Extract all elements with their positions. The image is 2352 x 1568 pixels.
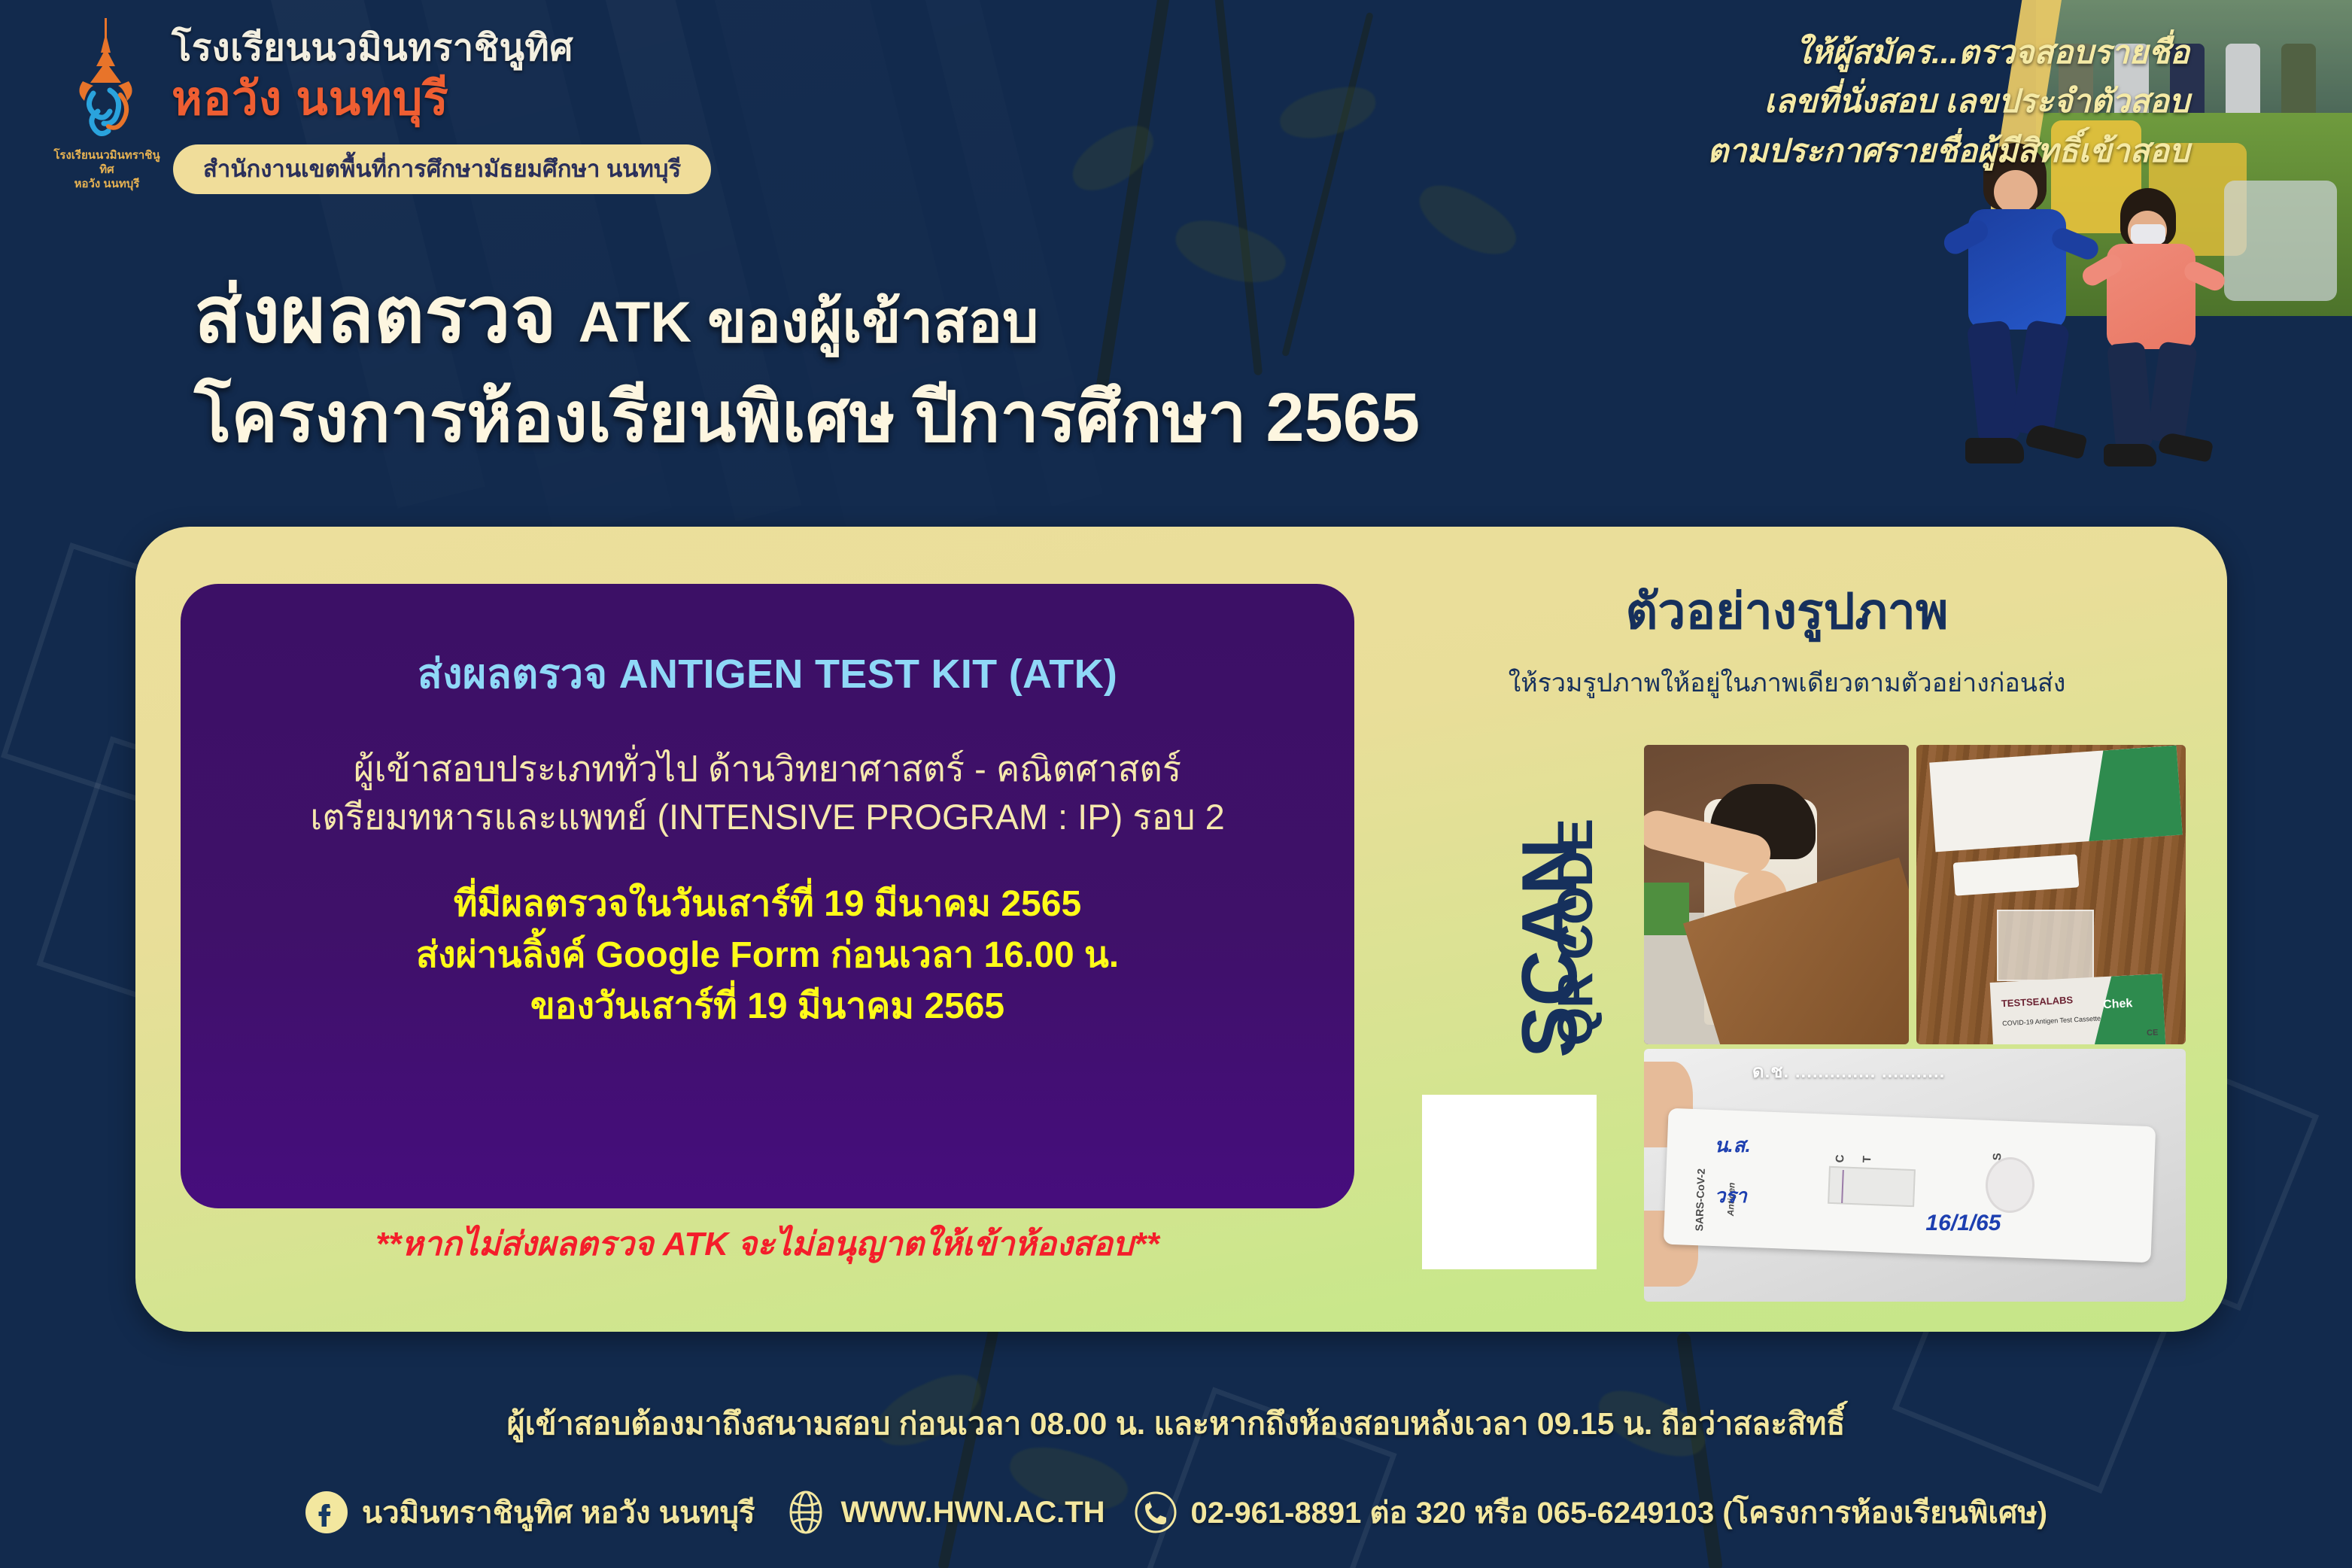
crest-caption: โรงเรียนนวมินทราชินูทิศ หอวัง นนทบุรี [47, 149, 167, 191]
crest-caption-line2: หอวัง นนทบุรี [47, 178, 167, 192]
kit-ce-label: CE [2147, 1029, 2159, 1038]
example-photos: TESTSEALABS COVID-19 Antigen Test Casset… [1644, 745, 2186, 1302]
footer-contacts: นวมินทราชินูทิศ หอวัง นนทบุรี WWW.HWN.AC… [0, 1471, 2352, 1554]
page-title-line2: โครงการห้องเรียนพิเศษ ปีการศึกษา 2565 [194, 361, 1420, 472]
footer-note: ผู้เข้าสอบต้องมาถึงสนามสอบ ก่อนเวลา 08.0… [0, 1399, 2352, 1448]
globe-icon [784, 1491, 828, 1534]
facebook-label: นวมินทราชินูทิศ หอวัง นนทบุรี [362, 1488, 755, 1536]
poster-root: โรงเรียนนวมินทราชินูทิศ หอวัง นนทบุรี โร… [0, 0, 2352, 1568]
atk-body1-line2: เตรียมทหารและแพทย์ (INTENSIVE PROGRAM : … [181, 793, 1354, 841]
atk-brand-label: SARS-CoV-2 [1693, 1168, 1707, 1232]
atk-t-mark: T [1861, 1156, 1873, 1163]
kit-brand-label: TESTSEALABS [2001, 995, 2074, 1010]
phone-label: 02-961-8891 ต่อ 320 หรือ 065-6249103 (โค… [1191, 1488, 2048, 1536]
atk-panel-heading: ส่งผลตรวจ ANTIGEN TEST KIT (ATK) [181, 641, 1354, 706]
atk-body2-line2: ส่งผ่านลิ้งค์ Google Form ก่อนเวลา 16.00… [181, 930, 1354, 981]
atk-panel-body-1: ผู้เข้าสอบประเภททั่วไป ด้านวิทยาศาสตร์ -… [181, 745, 1354, 842]
qr-code[interactable] [1422, 1095, 1597, 1269]
example-subtitle: ให้รวมรูปภาพให้อยู่ในภาพเดียวตามตัวอย่าง… [1399, 662, 2174, 703]
title-main: ส่งผลตรวจ [194, 272, 557, 359]
title-sub: ATK ของผู้เข้าสอบ [579, 290, 1039, 354]
sample-photo-kit: TESTSEALABS COVID-19 Antigen Test Casset… [1916, 745, 2186, 1044]
atk-body2-line3: ของวันเสาร์ที่ 19 มีนาคม 2565 [181, 981, 1354, 1032]
runner-student-pink [2081, 188, 2224, 474]
kit-sub-label: COVID-19 Antigen Test Cassette [2002, 1015, 2101, 1028]
notice-line-1: ให้ผู้สมัคร...ตรวจสอบรายชื่อ [1482, 29, 2189, 77]
atk-body1-line1: ผู้เข้าสอบประเภททั่วไป ด้านวิทยาศาสตร์ -… [181, 745, 1354, 793]
qr-code-word: QR CODE [1546, 819, 1603, 1046]
department-badge: สำนักงานเขตพื้นที่การศึกษามัธยมศึกษา นนท… [173, 144, 711, 194]
result-caption: ด.ช. .............. ........... [1752, 1056, 1945, 1086]
notice-line-2: เลขที่นั่งสอบ เลขประจำตัวสอบ [1482, 77, 2189, 126]
atk-panel-body-2: ที่มีผลตรวจในวันเสาร์ที่ 19 มีนาคม 2565 … [181, 879, 1354, 1032]
school-logo: โรงเรียนนวมินทราชินูทิศ หอวัง นนทบุรี [47, 14, 167, 187]
scan-label-group: SCAN QR CODE [1433, 722, 1539, 1061]
website-contact[interactable]: WWW.HWN.AC.TH [784, 1491, 1105, 1534]
atk-c-mark: C [1834, 1154, 1846, 1162]
atk-body2-line1: ที่มีผลตรวจในวันเสาร์ที่ 19 มีนาคม 2565 [181, 879, 1354, 930]
kit-brand2-label: Chek [2103, 997, 2133, 1012]
facebook-icon [305, 1491, 348, 1534]
atk-info-panel: ส่งผลตรวจ ANTIGEN TEST KIT (ATK) ผู้เข้า… [181, 584, 1354, 1208]
notice-line-3: ตามประกาศรายชื่อผู้มีสิทธิ์เข้าสอบ [1482, 127, 2189, 176]
warning-text: **หากไม่ส่งผลตรวจ ATK จะไม่อนุญาตให้เข้า… [181, 1217, 1354, 1270]
facebook-contact[interactable]: นวมินทราชินูทิศ หอวัง นนทบุรี [305, 1488, 755, 1536]
applicant-notice: ให้ผู้สมัคร...ตรวจสอบรายชื่อ เลขที่นั่งส… [1482, 29, 2189, 176]
crest-caption-line1: โรงเรียนนวมินทราชินูทิศ [47, 149, 167, 178]
school-branch: หอวัง นนทบุรี [172, 62, 449, 135]
sample-photo-swab [1644, 745, 1909, 1044]
example-title: ตัวอย่างรูปภาพ [1399, 572, 2174, 651]
atk-handwritten-date: 16/1/65 [1925, 1211, 2001, 1236]
page-title-line1: ส่งผลตรวจ ATK ของผู้เข้าสอบ [194, 252, 1038, 376]
website-label: WWW.HWN.AC.TH [841, 1496, 1105, 1530]
phone-contact[interactable]: 02-961-8891 ต่อ 320 หรือ 065-6249103 (โค… [1134, 1488, 2048, 1536]
runner-student-blue [1938, 143, 2104, 466]
crest-icon [54, 17, 160, 156]
phone-icon [1134, 1491, 1178, 1534]
sample-photo-result: ด.ช. .............. ........... SARS-CoV… [1644, 1049, 2186, 1302]
